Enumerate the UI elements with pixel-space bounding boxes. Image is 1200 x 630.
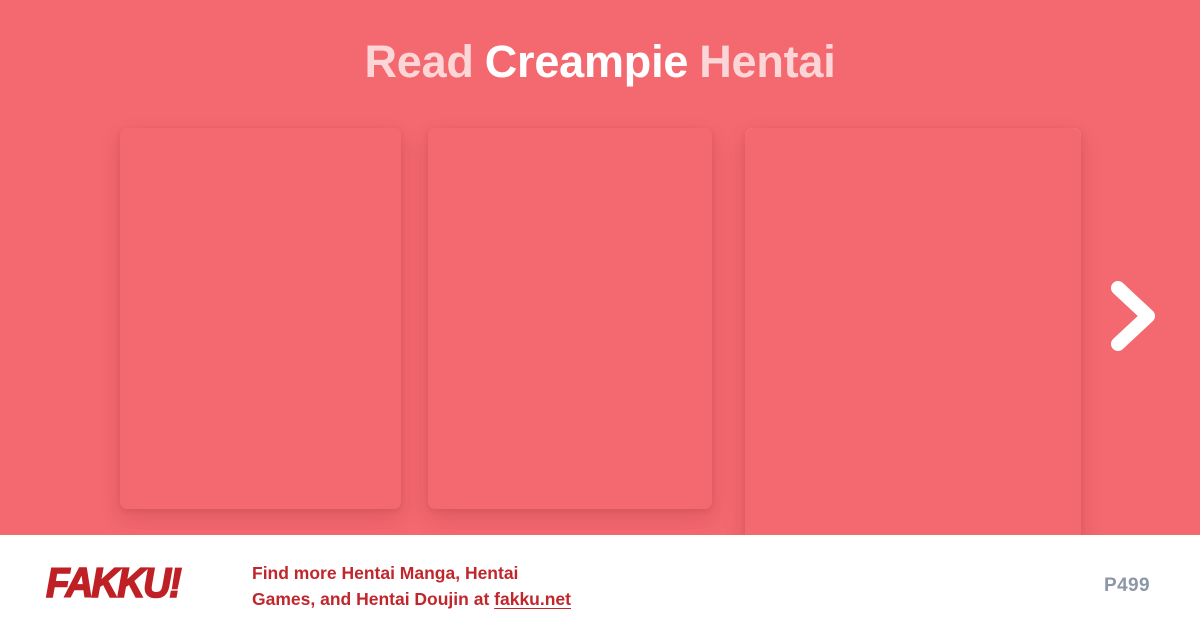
manga-page-preview-2[interactable] (428, 128, 712, 509)
page-title-tag: Creampie (485, 36, 689, 87)
manga-page-preview-3-upper (745, 128, 1081, 535)
fakku-logo[interactable]: FAKKU! (46, 559, 180, 607)
share-card: ReadCreampieHentai FAKKU! Find more Hent… (0, 0, 1200, 630)
page-number-badge: P499 (1104, 574, 1150, 598)
fakku-net-link[interactable]: fakku.net (494, 589, 571, 609)
footer-tagline-line2: Games, and Hentai Doujin at (252, 589, 489, 609)
next-page-button[interactable] (1100, 268, 1166, 364)
footer-tagline: Find more Hentai Manga, Hentai Games, an… (252, 560, 682, 612)
chevron-right-icon (1100, 268, 1166, 364)
page-title-suffix: Hentai (699, 36, 835, 87)
page-title-prefix: Read (364, 36, 473, 87)
page-title: ReadCreampieHentai (0, 30, 1200, 94)
manga-page-preview-1[interactable] (120, 128, 401, 509)
footer-tagline-line1: Find more Hentai Manga, Hentai (252, 563, 518, 583)
